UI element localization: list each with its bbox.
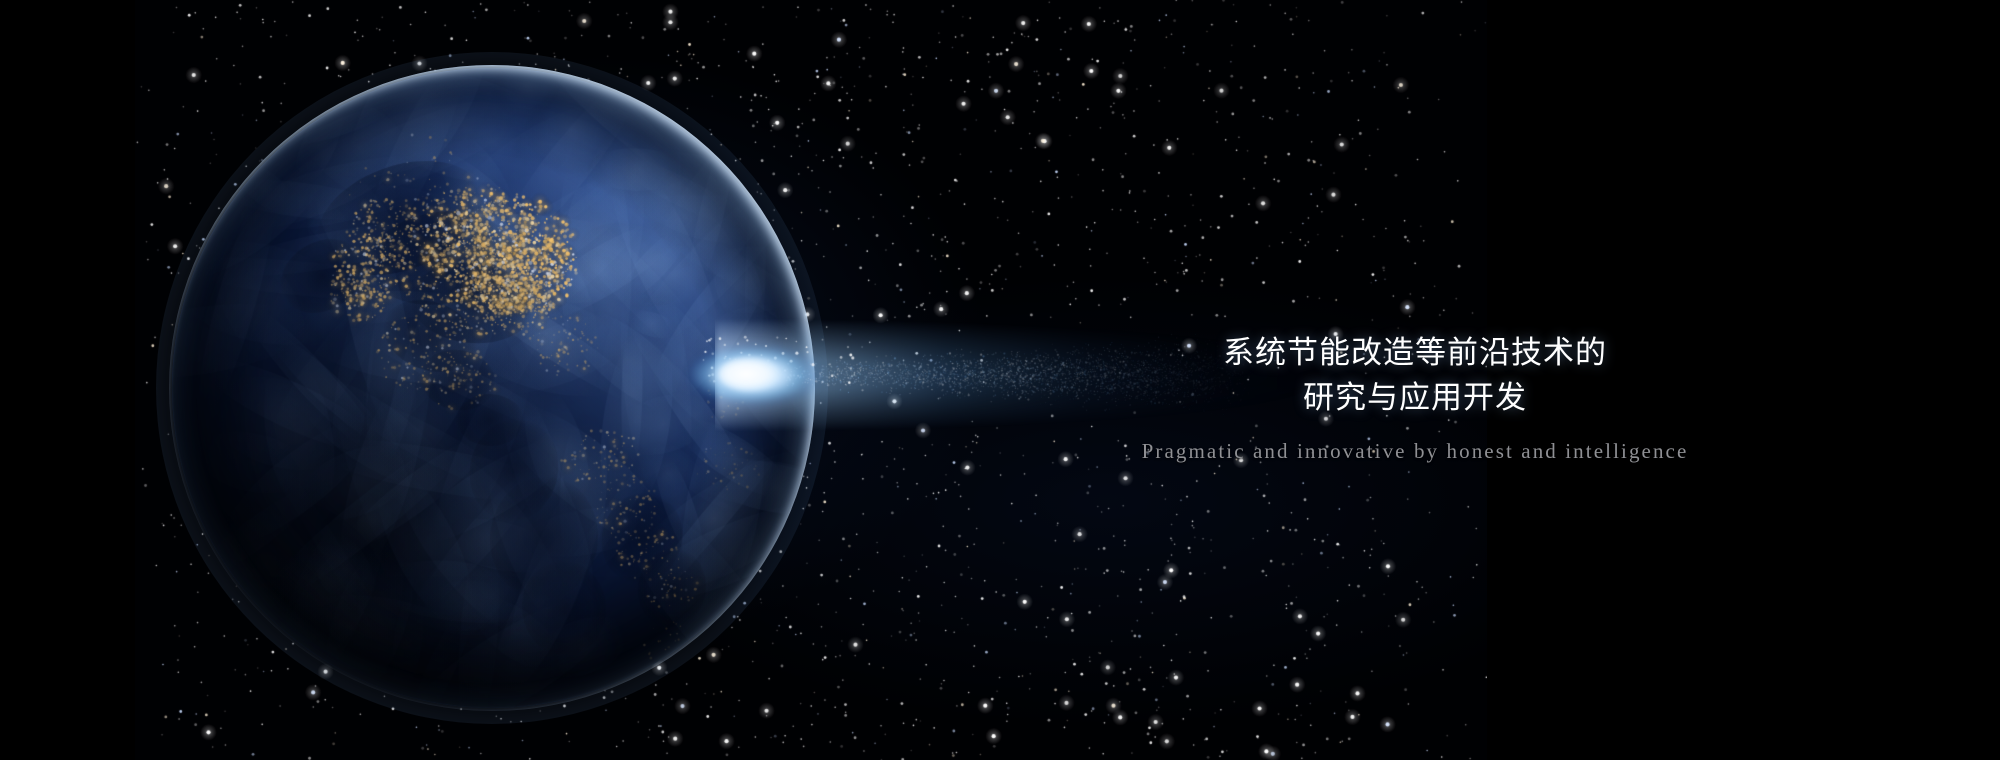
headline-line-1: 系统节能改造等前沿技术的: [1055, 330, 1775, 375]
subtitle: Pragmatic and innovative by honest and i…: [1055, 438, 1775, 464]
earth-globe: [172, 68, 812, 708]
hero-banner: 系统节能改造等前沿技术的 研究与应用开发 Pragmatic and innov…: [0, 0, 2000, 760]
banner-copy: 系统节能改造等前沿技术的 研究与应用开发 Pragmatic and innov…: [1055, 330, 1775, 464]
atmosphere-rim: [169, 65, 815, 711]
headline-line-2: 研究与应用开发: [1055, 375, 1775, 420]
headline: 系统节能改造等前沿技术的 研究与应用开发: [1055, 330, 1775, 420]
